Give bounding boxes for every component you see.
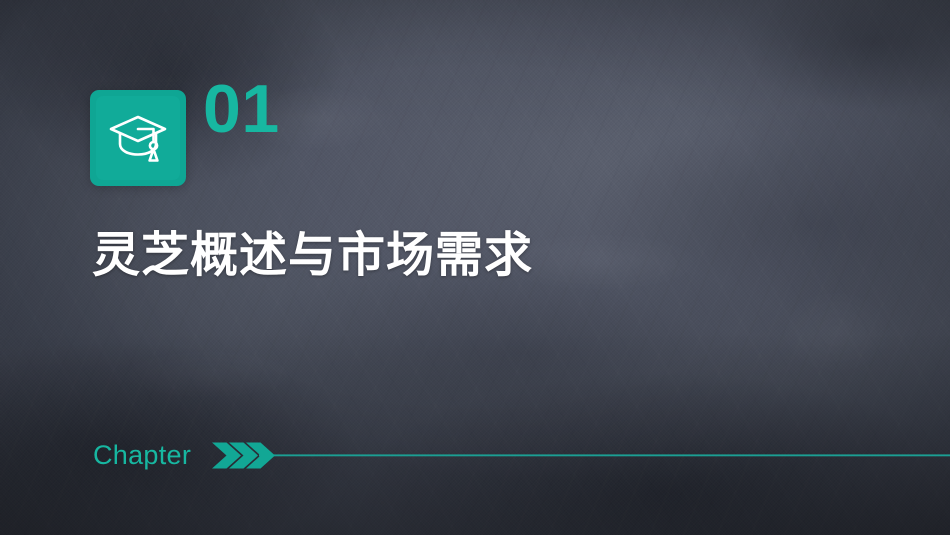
section-divider-slide: 01 灵芝概述与市场需求 Chapter bbox=[0, 0, 950, 535]
section-number: 01 bbox=[203, 75, 280, 143]
chapter-label: Chapter bbox=[93, 430, 191, 480]
triple-chevron-right-icon bbox=[211, 442, 950, 470]
section-badge bbox=[90, 90, 186, 186]
slide-footer: Chapter bbox=[0, 430, 950, 480]
page-title: 灵芝概述与市场需求 bbox=[92, 230, 533, 282]
graduation-cap-icon bbox=[90, 90, 186, 186]
